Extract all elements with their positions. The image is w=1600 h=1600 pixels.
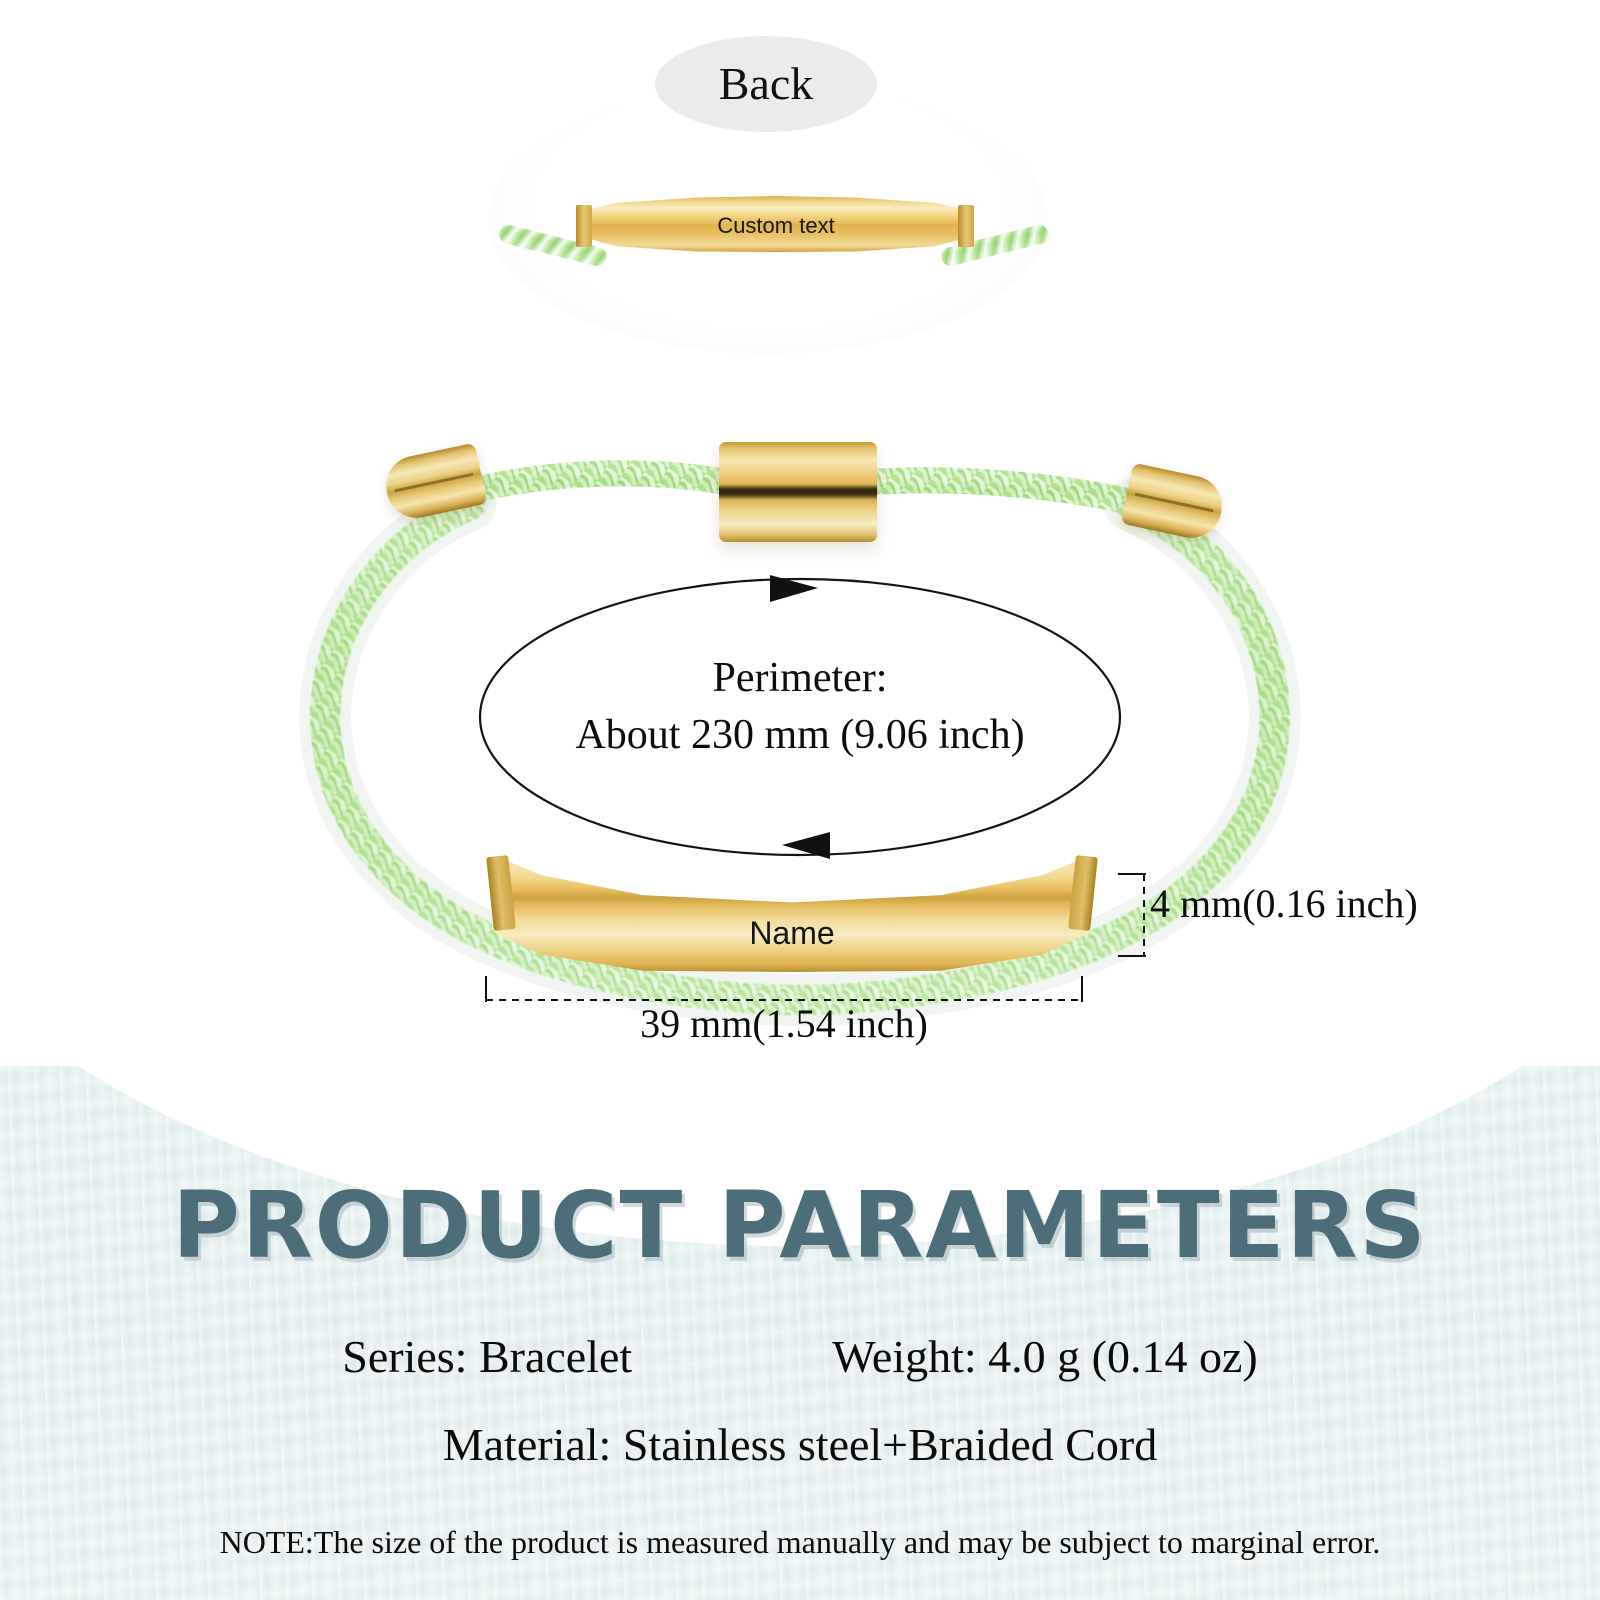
back-label-text: Back: [655, 36, 877, 132]
product-parameters-title: PRODUCT PARAMETERS: [0, 1172, 1600, 1279]
height-dimension-label: 4 mm(0.16 inch): [1150, 880, 1418, 927]
width-dimension-label: 39 mm(1.54 inch): [484, 1000, 1084, 1047]
measurement-note: NOTE:The size of the product is measured…: [0, 1524, 1600, 1561]
parameter-material: Material: Stainless steel+Braided Cord: [0, 1418, 1600, 1471]
height-dimension-line: [1118, 872, 1152, 958]
product-infographic: Custom text Back: [0, 0, 1600, 1600]
name-bar-engraving-text: Name: [494, 908, 1090, 958]
perimeter-label: Perimeter:: [713, 655, 888, 701]
parameter-weight: Weight: 4.0 g (0.14 oz): [832, 1330, 1258, 1383]
end-cap-seam: [1134, 492, 1213, 512]
perimeter-annotation: Perimeter: About 230 mm (9.06 inch): [470, 650, 1130, 763]
gold-slider-tube: [719, 442, 877, 542]
parameters-row-primary: Series: Bracelet Weight: 4.0 g (0.14 oz): [0, 1330, 1600, 1383]
perimeter-value: About 230 mm (9.06 inch): [470, 707, 1130, 764]
parameter-series: Series: Bracelet: [342, 1330, 632, 1383]
back-plate-engraving-text: Custom text: [578, 205, 974, 247]
end-cap-seam: [394, 472, 473, 492]
